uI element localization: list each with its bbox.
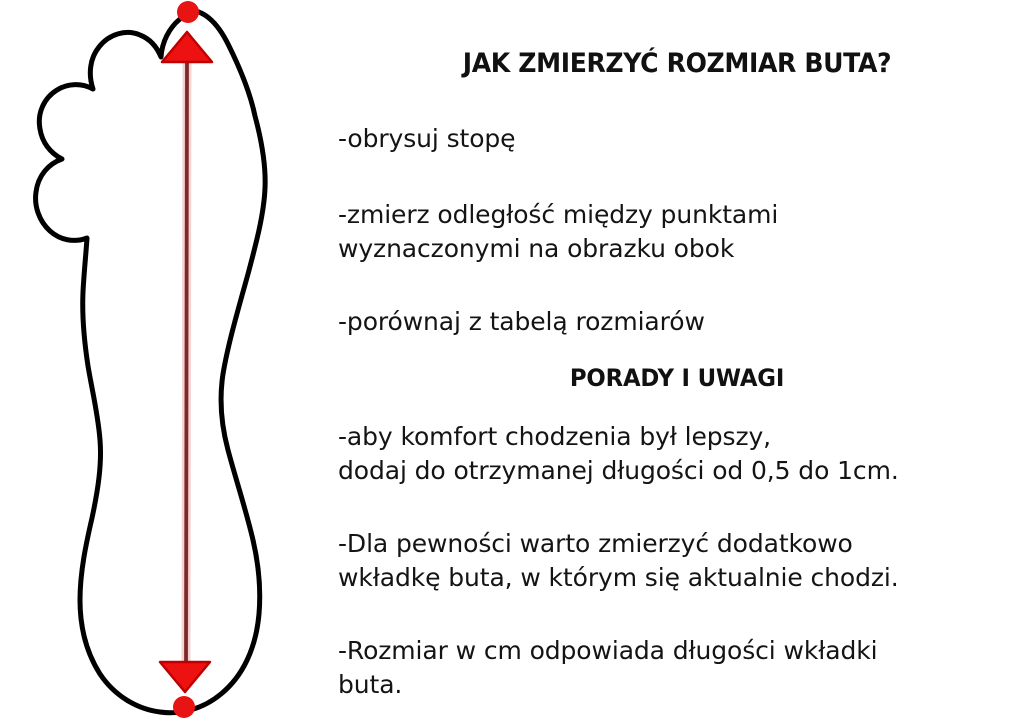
instruction-item-3: -porównaj z tabelą rozmiarów — [338, 305, 1024, 339]
instructions-panel: JAK ZMIERZYĆ ROZMIAR BUTA? -obrysuj stop… — [330, 0, 1024, 724]
foot-diagram — [0, 0, 330, 724]
tip-item-1: -aby komfort chodzenia był lepszy, dodaj… — [338, 420, 1024, 488]
page-title: JAK ZMIERZYĆ ROZMIAR BUTA? — [354, 48, 999, 79]
tip-item-2: -Dla pewności warto zmierzyć dodatkowo w… — [338, 527, 1024, 595]
measure-point-toe — [177, 1, 199, 23]
foot-outline-path — [36, 10, 266, 713]
measure-arrow-shaft-core — [186, 40, 187, 684]
tip-item-3: -Rozmiar w cm odpowiada długości wkładki… — [338, 634, 1024, 702]
section-title-tips: PORADY I UWAGI — [347, 364, 1006, 392]
instruction-item-1: -obrysuj stopę — [338, 122, 1024, 156]
foot-outline-svg — [0, 0, 330, 724]
measure-point-heel — [173, 696, 195, 718]
instruction-item-2: -zmierz odległość między punktami wyznac… — [338, 198, 1024, 266]
